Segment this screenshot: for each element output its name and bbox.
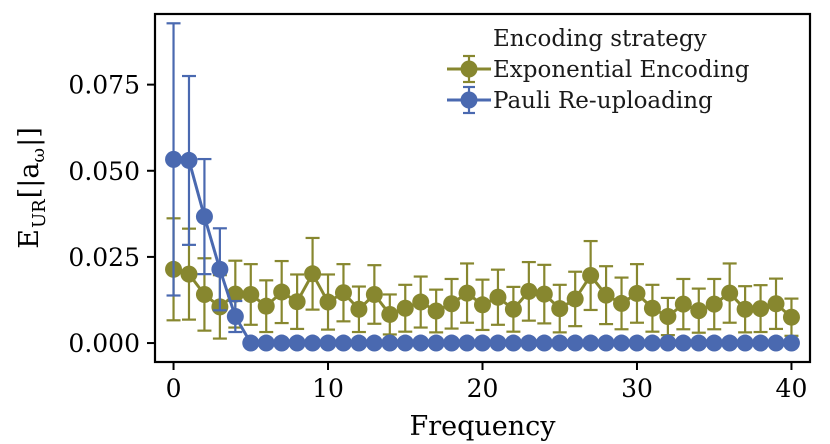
data-point-marker xyxy=(289,293,306,310)
data-point-marker xyxy=(242,286,259,303)
data-point-marker xyxy=(273,335,290,352)
data-point-marker xyxy=(381,335,398,352)
data-point-marker xyxy=(412,335,429,352)
data-point-marker xyxy=(768,335,785,352)
legend-marker xyxy=(461,92,478,109)
data-point-marker xyxy=(644,300,661,317)
data-point-marker xyxy=(551,300,568,317)
data-point-marker xyxy=(211,261,228,278)
data-point-marker xyxy=(598,287,615,304)
data-point-marker xyxy=(366,335,383,352)
legend-entry-1[interactable]: Exponential Encoding xyxy=(447,56,750,83)
data-point-marker xyxy=(304,335,321,352)
data-point-marker xyxy=(567,335,584,352)
y-axis-title: EUR[|aω|] xyxy=(14,127,50,249)
y-tick-label: 0.025 xyxy=(68,243,140,272)
y-tick-label: 0.000 xyxy=(68,329,140,358)
data-point-marker xyxy=(628,335,645,352)
y-tick-label: 0.050 xyxy=(68,157,140,186)
data-point-marker xyxy=(273,284,290,301)
data-point-marker xyxy=(165,151,182,168)
legend-entry-2[interactable]: Pauli Re-uploading xyxy=(447,87,713,114)
data-point-marker xyxy=(598,335,615,352)
data-point-marker xyxy=(644,335,661,352)
data-point-marker xyxy=(659,335,676,352)
figure-container: 0102030400.0000.0250.0500.075FrequencyEU… xyxy=(0,0,830,444)
data-point-marker xyxy=(721,335,738,352)
data-point-marker xyxy=(412,294,429,311)
data-point-marker xyxy=(289,335,306,352)
data-point-marker xyxy=(567,290,584,307)
data-point-marker xyxy=(428,335,445,352)
x-tick-label: 20 xyxy=(467,374,499,403)
data-point-marker xyxy=(196,286,213,303)
data-point-marker xyxy=(335,284,352,301)
legend-label: Exponential Encoding xyxy=(493,57,750,83)
data-point-marker xyxy=(613,335,630,352)
data-point-marker xyxy=(489,289,506,306)
data-point-marker xyxy=(459,285,476,302)
data-point-marker xyxy=(474,296,491,313)
y-tick-label: 0.075 xyxy=(68,71,140,100)
data-point-marker xyxy=(551,335,568,352)
data-point-marker xyxy=(397,300,414,317)
data-point-marker xyxy=(320,294,337,311)
data-point-marker xyxy=(675,296,692,313)
data-point-marker xyxy=(520,335,537,352)
data-point-marker xyxy=(520,283,537,300)
data-point-marker xyxy=(706,335,723,352)
data-point-marker xyxy=(258,335,275,352)
data-point-marker xyxy=(690,335,707,352)
x-tick-label: 40 xyxy=(776,374,808,403)
data-point-marker xyxy=(474,335,491,352)
data-point-marker xyxy=(366,286,383,303)
data-point-marker xyxy=(706,296,723,313)
data-point-marker xyxy=(582,267,599,284)
series-1 xyxy=(165,218,800,338)
legend-title: Encoding strategy xyxy=(493,26,707,52)
y-axis-title-text: EUR[|aω|] xyxy=(14,127,50,249)
legend-marker xyxy=(461,61,478,78)
data-point-marker xyxy=(489,335,506,352)
data-point-marker xyxy=(242,335,259,352)
data-point-marker xyxy=(613,295,630,312)
data-point-marker xyxy=(227,308,244,325)
data-point-marker xyxy=(350,301,367,318)
data-point-marker xyxy=(381,306,398,323)
data-point-marker xyxy=(397,335,414,352)
x-axis-title: Frequency xyxy=(409,411,556,442)
data-point-marker xyxy=(180,152,197,169)
data-point-marker xyxy=(428,303,445,320)
chart-canvas: 0102030400.0000.0250.0500.075FrequencyEU… xyxy=(0,0,830,444)
legend-label: Pauli Re-uploading xyxy=(493,88,713,114)
data-point-marker xyxy=(582,335,599,352)
x-tick-label: 10 xyxy=(312,374,344,403)
data-point-marker xyxy=(783,309,800,326)
data-point-marker xyxy=(721,285,738,302)
data-point-marker xyxy=(737,335,754,352)
data-point-marker xyxy=(304,265,321,282)
data-point-marker xyxy=(320,335,337,352)
x-tick-label: 30 xyxy=(621,374,653,403)
data-point-marker xyxy=(737,301,754,318)
data-point-marker xyxy=(443,335,460,352)
data-point-marker xyxy=(536,286,553,303)
data-point-marker xyxy=(180,266,197,283)
data-point-marker xyxy=(505,301,522,318)
x-tick-label: 0 xyxy=(166,374,182,403)
data-point-marker xyxy=(768,295,785,312)
data-point-marker xyxy=(196,208,213,225)
data-point-marker xyxy=(752,300,769,317)
data-point-marker xyxy=(459,335,476,352)
data-point-marker xyxy=(675,335,692,352)
data-point-marker xyxy=(659,308,676,325)
data-point-marker xyxy=(783,335,800,352)
data-point-marker xyxy=(628,285,645,302)
data-point-marker xyxy=(350,335,367,352)
data-point-marker xyxy=(752,335,769,352)
data-point-marker xyxy=(536,335,553,352)
data-point-marker xyxy=(690,302,707,319)
data-point-marker xyxy=(258,298,275,315)
legend: Encoding strategyExponential EncodingPau… xyxy=(447,26,750,114)
data-point-marker xyxy=(335,335,352,352)
data-point-marker xyxy=(505,335,522,352)
data-point-marker xyxy=(443,295,460,312)
